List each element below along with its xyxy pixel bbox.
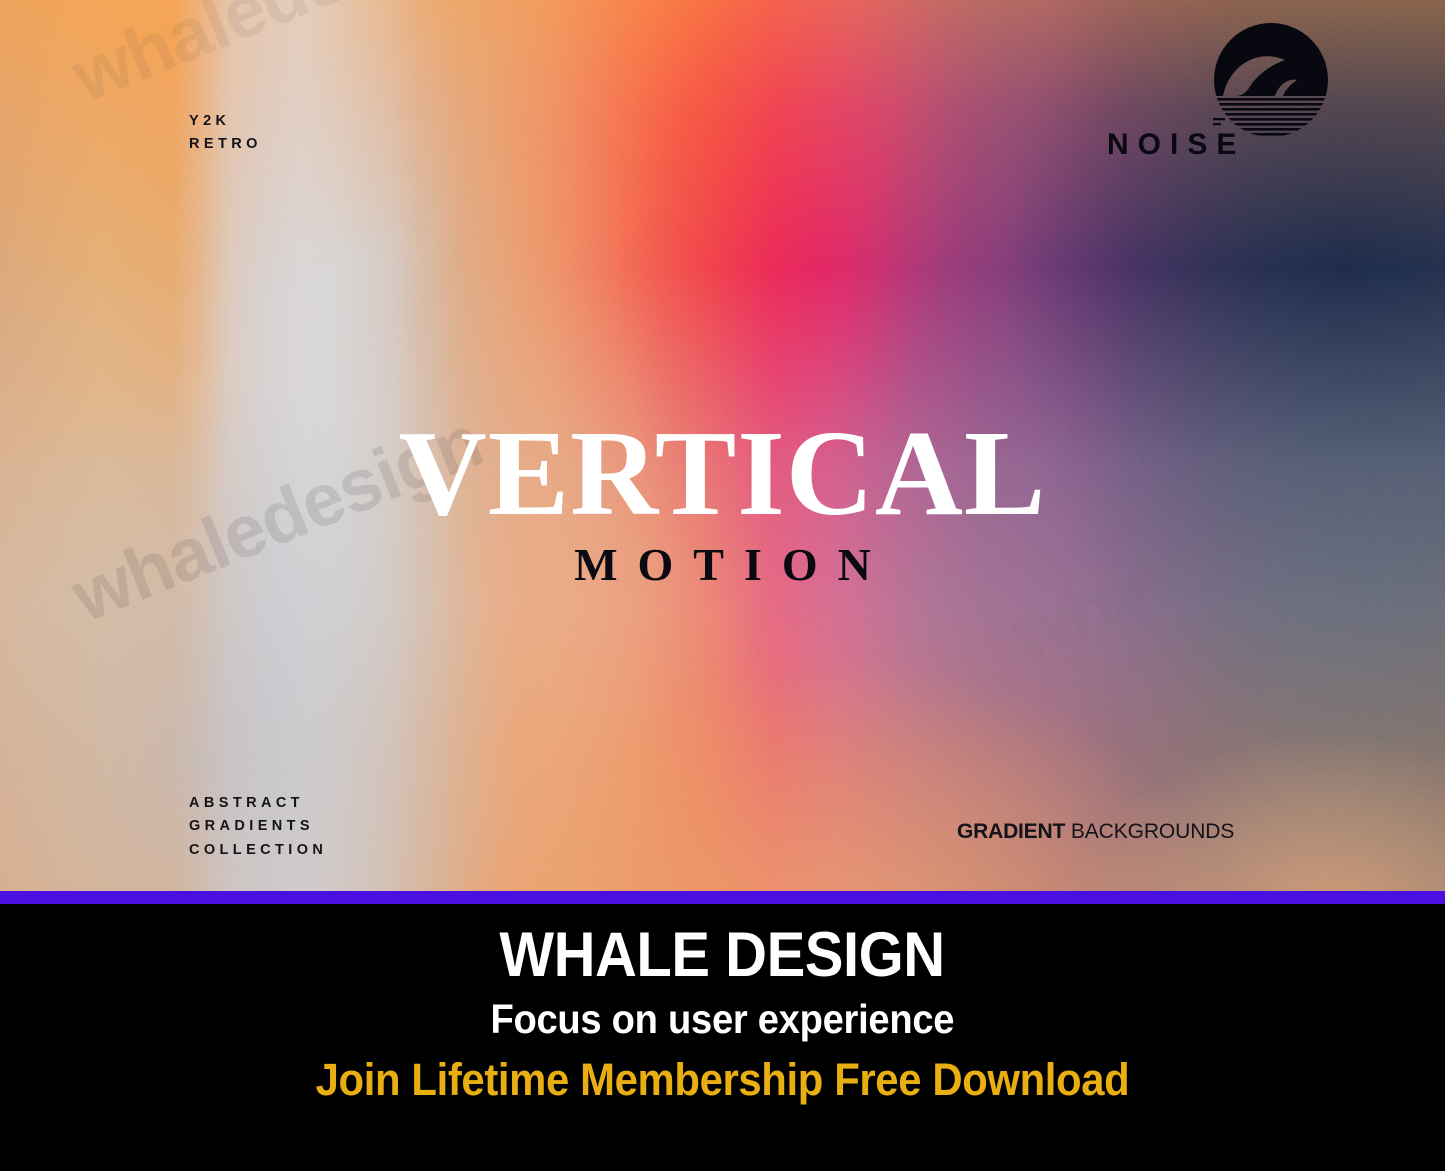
footer-banner: WHALE DESIGN Focus on user experience Jo… [0, 904, 1445, 1171]
label-backgrounds-thin: BACKGROUNDS [1065, 820, 1234, 843]
label-gradient-backgrounds: GRADIENT BACKGROUNDS [957, 820, 1234, 844]
footer-tagline: Focus on user experience [491, 998, 955, 1041]
purple-divider [0, 891, 1445, 904]
label-y2k-retro: Y2K RETRO [189, 110, 262, 157]
gradient-artwork: whaledesign whaledesign whaledesign Y2K … [0, 0, 1445, 891]
label-abstract-gradients-collection: ABSTRACT GRADIENTS COLLECTION [189, 792, 327, 862]
brand-lockup: NOISE [1107, 22, 1343, 162]
label-gradient-bold: GRADIENT [957, 820, 1065, 843]
footer-brand-title: WHALE DESIGN [500, 923, 945, 987]
footer-cta-text[interactable]: Join Lifetime Membership Free Download [316, 1056, 1130, 1103]
brand-name: NOISE [1107, 130, 1245, 160]
poster-canvas: whaledesign whaledesign whaledesign Y2K … [0, 0, 1445, 1171]
whale-circle-logo-icon [1213, 22, 1329, 138]
